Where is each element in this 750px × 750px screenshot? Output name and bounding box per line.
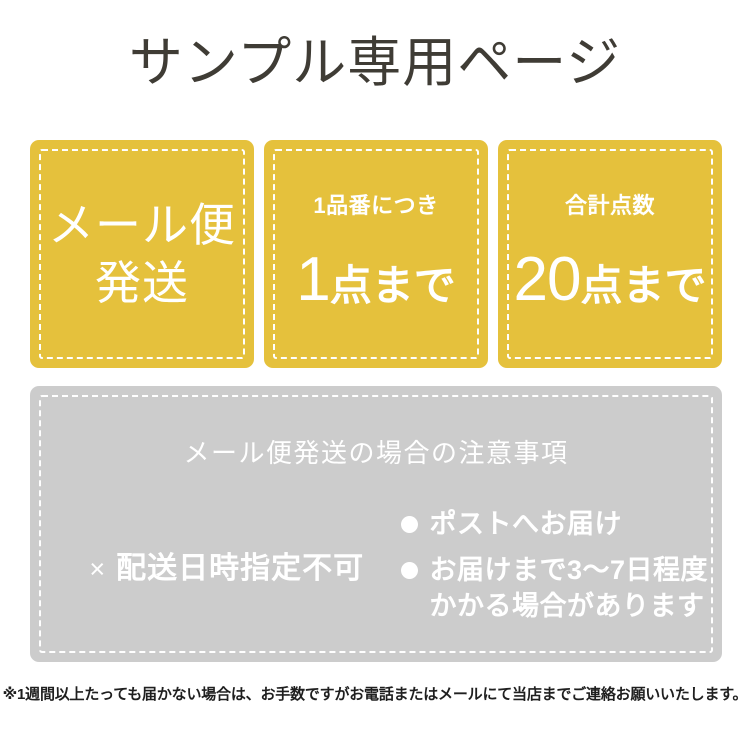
footer-note: ※1週間以上たっても届かない場合は、お手数ですがお電話またはメールにて当店までご… (0, 684, 750, 706)
notice-bullet-2-line-1: お届けまで3〜7日程度 (429, 552, 708, 588)
card-per-item-limit-caption: 1品番につき (264, 191, 488, 221)
bullet-dot-icon (401, 516, 418, 533)
card-per-item-limit-content: 1品番につき 1 点まで (264, 191, 488, 317)
card-shipping-method-line2: 発送 (30, 254, 254, 312)
notice-panel: メール便発送の場合の注意事項 ×配送日時指定不可 ポストへお届け お届 (30, 386, 722, 662)
card-per-item-limit-unit: 点まで (330, 255, 456, 317)
cross-icon: × (89, 554, 106, 584)
list-item: ポストへお届け (401, 506, 708, 542)
notice-restriction-text: ×配送日時指定不可 (89, 549, 364, 589)
card-per-item-limit-amount: 1 点まで (264, 249, 488, 317)
page-title: サンプル専用ページ (0, 28, 750, 98)
list-item: お届けまで3〜7日程度 かかる場合があります (401, 552, 708, 624)
card-total-limit-number: 20 (514, 249, 581, 311)
card-total-limit: 合計点数 20 点まで (498, 140, 722, 368)
notice-bullet-1-line-1: ポストへお届け (429, 506, 622, 542)
notice-bullet-2-line-2: かかる場合があります (429, 588, 708, 624)
sample-page: サンプル専用ページ メール便 発送 1品番につき 1 点まで (0, 0, 750, 750)
card-shipping-method-line1: メール便 (30, 196, 254, 254)
bullet-dot-icon (401, 562, 418, 579)
notice-restriction-label: 配送日時指定不可 (116, 552, 364, 585)
card-total-limit-caption: 合計点数 (498, 191, 722, 221)
notice-heading: メール便発送の場合の注意事項 (30, 436, 722, 470)
card-shipping-method-content: メール便 発送 (30, 196, 254, 312)
card-total-limit-content: 合計点数 20 点まで (498, 191, 722, 317)
notice-restriction: ×配送日時指定不可 (52, 504, 401, 634)
card-shipping-method: メール便 発送 (30, 140, 254, 368)
notice-body: ×配送日時指定不可 ポストへお届け お届けまで3〜7日程度 かかる場合があります (30, 504, 722, 644)
card-per-item-limit: 1品番につき 1 点まで (264, 140, 488, 368)
notice-bullet-2-text: お届けまで3〜7日程度 かかる場合があります (429, 552, 708, 624)
notice-bullet-1-text: ポストへお届け (429, 506, 622, 542)
card-total-limit-unit: 点まで (580, 255, 706, 317)
notice-bullet-list: ポストへお届け お届けまで3〜7日程度 かかる場合があります (401, 504, 708, 624)
card-total-limit-amount: 20 点まで (498, 249, 722, 317)
card-per-item-limit-number: 1 (296, 249, 329, 311)
info-cards-row: メール便 発送 1品番につき 1 点まで 合計点数 20 点まで (30, 140, 722, 368)
